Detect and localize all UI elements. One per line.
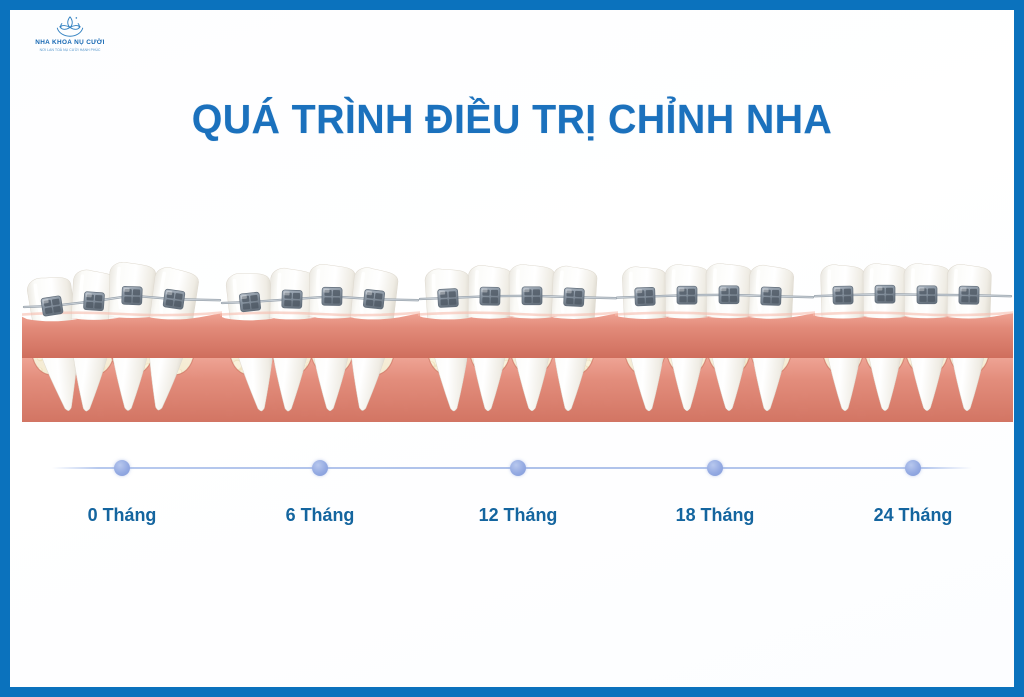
tooth-group-svg <box>22 262 222 422</box>
timeline-dot-6-months[interactable] <box>312 460 328 476</box>
frame-border-bottom <box>0 687 1024 697</box>
stage-24-months <box>813 262 1013 422</box>
timeline-label-24-months: 24 Tháng <box>873 504 952 526</box>
timeline-label-6-months: 6 Tháng <box>286 504 355 526</box>
page-title: QUÁ TRÌNH ĐIỀU TRỊ CHỈNH NHA <box>30 96 994 143</box>
brand-name: NHA KHOA NỤ CƯỜI <box>35 39 105 46</box>
orthodontic-timeline-infographic: NHA KHOA NỤ CƯỜI NƠI LAN TOẢ NỤ CƯỜI HẠN… <box>0 0 1024 697</box>
timeline-labels: 0 Tháng6 Tháng12 Tháng18 Tháng24 Tháng <box>10 504 1014 538</box>
frame-border-right <box>1014 0 1024 697</box>
frame-border-top <box>0 0 1024 10</box>
frame-border-left <box>0 0 10 697</box>
stages-row <box>10 262 1014 422</box>
timeline-dot-0-months[interactable] <box>114 460 130 476</box>
stage-18-months <box>615 262 815 422</box>
timeline-label-18-months: 18 Tháng <box>675 504 754 526</box>
content-canvas: NHA KHOA NỤ CƯỜI NƠI LAN TOẢ NỤ CƯỜI HẠN… <box>10 10 1014 687</box>
lotus-flower-icon <box>53 14 87 38</box>
tooth-group-svg <box>418 262 618 422</box>
stage-6-months <box>220 262 420 422</box>
brand-logo: NHA KHOA NỤ CƯỜI NƠI LAN TOẢ NỤ CƯỜI HẠN… <box>22 14 118 60</box>
timeline-track <box>10 456 1014 480</box>
tooth-group-svg <box>813 262 1013 422</box>
stage-12-months <box>418 262 618 422</box>
tooth-group-svg <box>615 262 815 422</box>
timeline-label-0-months: 0 Tháng <box>88 504 157 526</box>
timeline-dot-12-months[interactable] <box>510 460 526 476</box>
stage-0-months <box>22 262 222 422</box>
timeline-label-12-months: 12 Tháng <box>479 504 558 526</box>
brand-tagline: NƠI LAN TOẢ NỤ CƯỜI HẠNH PHÚC <box>40 48 101 52</box>
tooth-group-svg <box>220 262 420 422</box>
timeline-dot-18-months[interactable] <box>707 460 723 476</box>
timeline-dot-24-months[interactable] <box>905 460 921 476</box>
